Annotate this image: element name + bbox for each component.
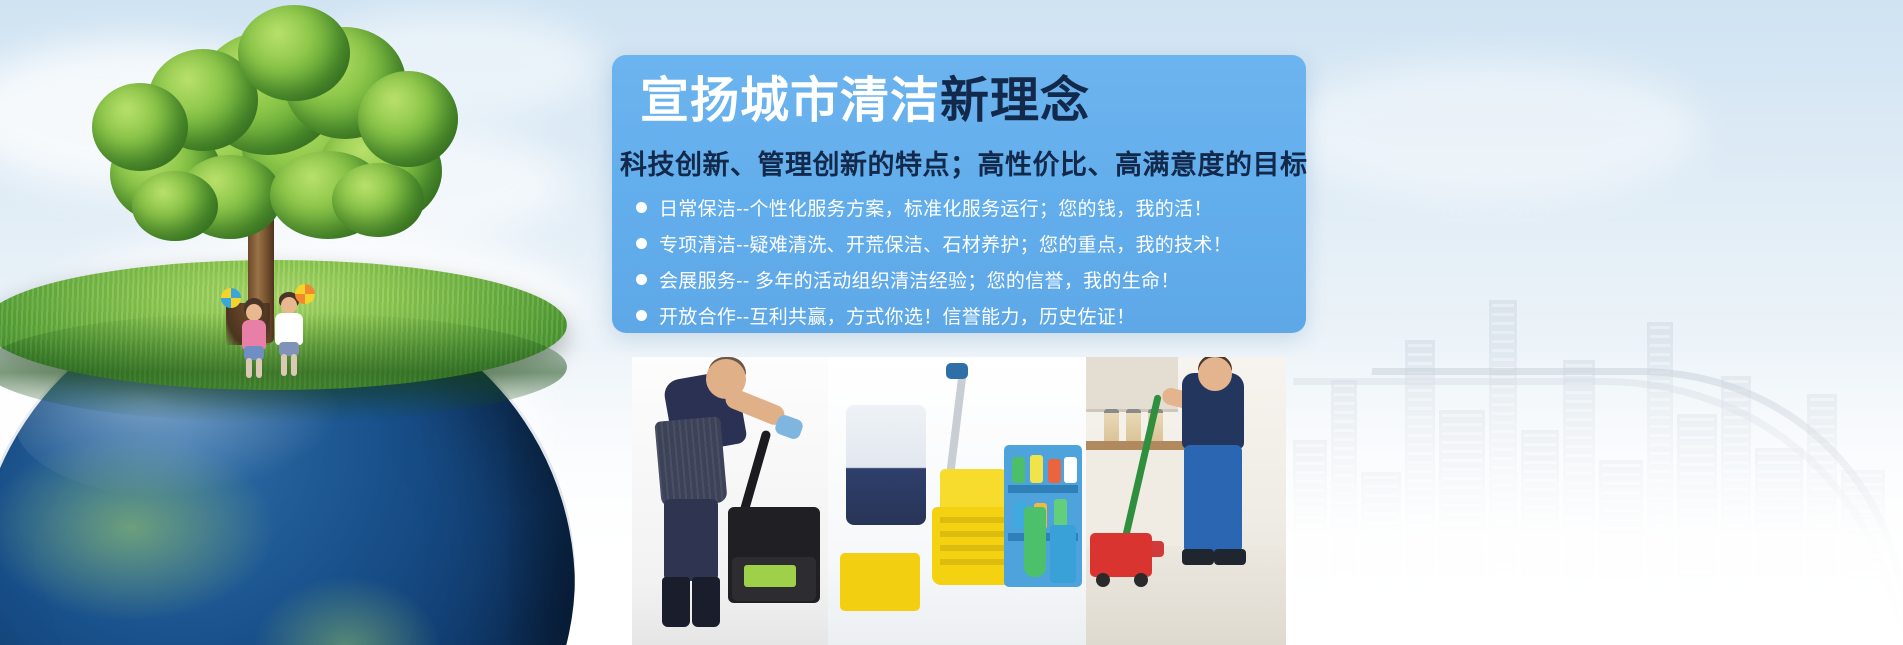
photo-strip — [632, 357, 1286, 645]
banner-stage: 宣扬城市清洁新理念 科技创新、管理创新的特点；高性价比、高满意度的目标 日常保洁… — [0, 0, 1903, 645]
bullet-dot-icon — [636, 202, 647, 213]
earth-globe-illustration — [0, 250, 595, 645]
card-bullet-list: 日常保洁--个性化服务方案，标准化服务运行；您的钱，我的活！ 专项清洁--疑难清… — [636, 192, 1296, 336]
card-title-white: 宣扬城市清洁 — [640, 74, 940, 128]
photo-floor-scrubber-worker — [632, 357, 828, 645]
child-figure — [271, 292, 307, 378]
list-item-label: 专项清洁--疑难清洗、开荒保洁、石材养护；您的重点，我的技术！ — [659, 230, 1232, 257]
pinwheel-icon — [221, 288, 241, 308]
list-item: 会展服务-- 多年的活动组织清洁经验；您的信誉，我的生命！ — [636, 264, 1296, 295]
pinwheel-icon — [295, 284, 315, 304]
card-title-navy: 新理念 — [940, 74, 1090, 128]
list-item-label: 开放合作--互利共赢，方式你选！信誉能力，历史佐证！ — [659, 302, 1135, 329]
list-item: 专项清洁--疑难清洗、开荒保洁、石材养护；您的重点，我的技术！ — [636, 228, 1296, 259]
list-item: 开放合作--互利共赢，方式你选！信誉能力，历史佐证！ — [636, 300, 1296, 331]
card-subtitle: 科技创新、管理创新的特点；高性价比、高满意度的目标 — [620, 143, 1308, 182]
tree-illustration — [70, 5, 470, 335]
child-figure — [237, 298, 271, 378]
card-title: 宣扬城市清洁新理念 — [640, 77, 1090, 126]
bullet-dot-icon — [636, 274, 647, 285]
photo-kitchen-cleaning-worker — [1086, 357, 1286, 645]
bullet-dot-icon — [636, 310, 647, 321]
promo-card: 宣扬城市清洁新理念 科技创新、管理创新的特点；高性价比、高满意度的目标 日常保洁… — [612, 55, 1306, 333]
list-item-label: 会展服务-- 多年的活动组织清洁经验；您的信誉，我的生命！ — [659, 266, 1180, 293]
bullet-dot-icon — [636, 238, 647, 249]
photo-mop-bucket-cart — [828, 357, 1086, 645]
list-item-label: 日常保洁--个性化服务方案，标准化服务运行；您的钱，我的活！ — [659, 194, 1213, 221]
list-item: 日常保洁--个性化服务方案，标准化服务运行；您的钱，我的活！ — [636, 192, 1296, 223]
